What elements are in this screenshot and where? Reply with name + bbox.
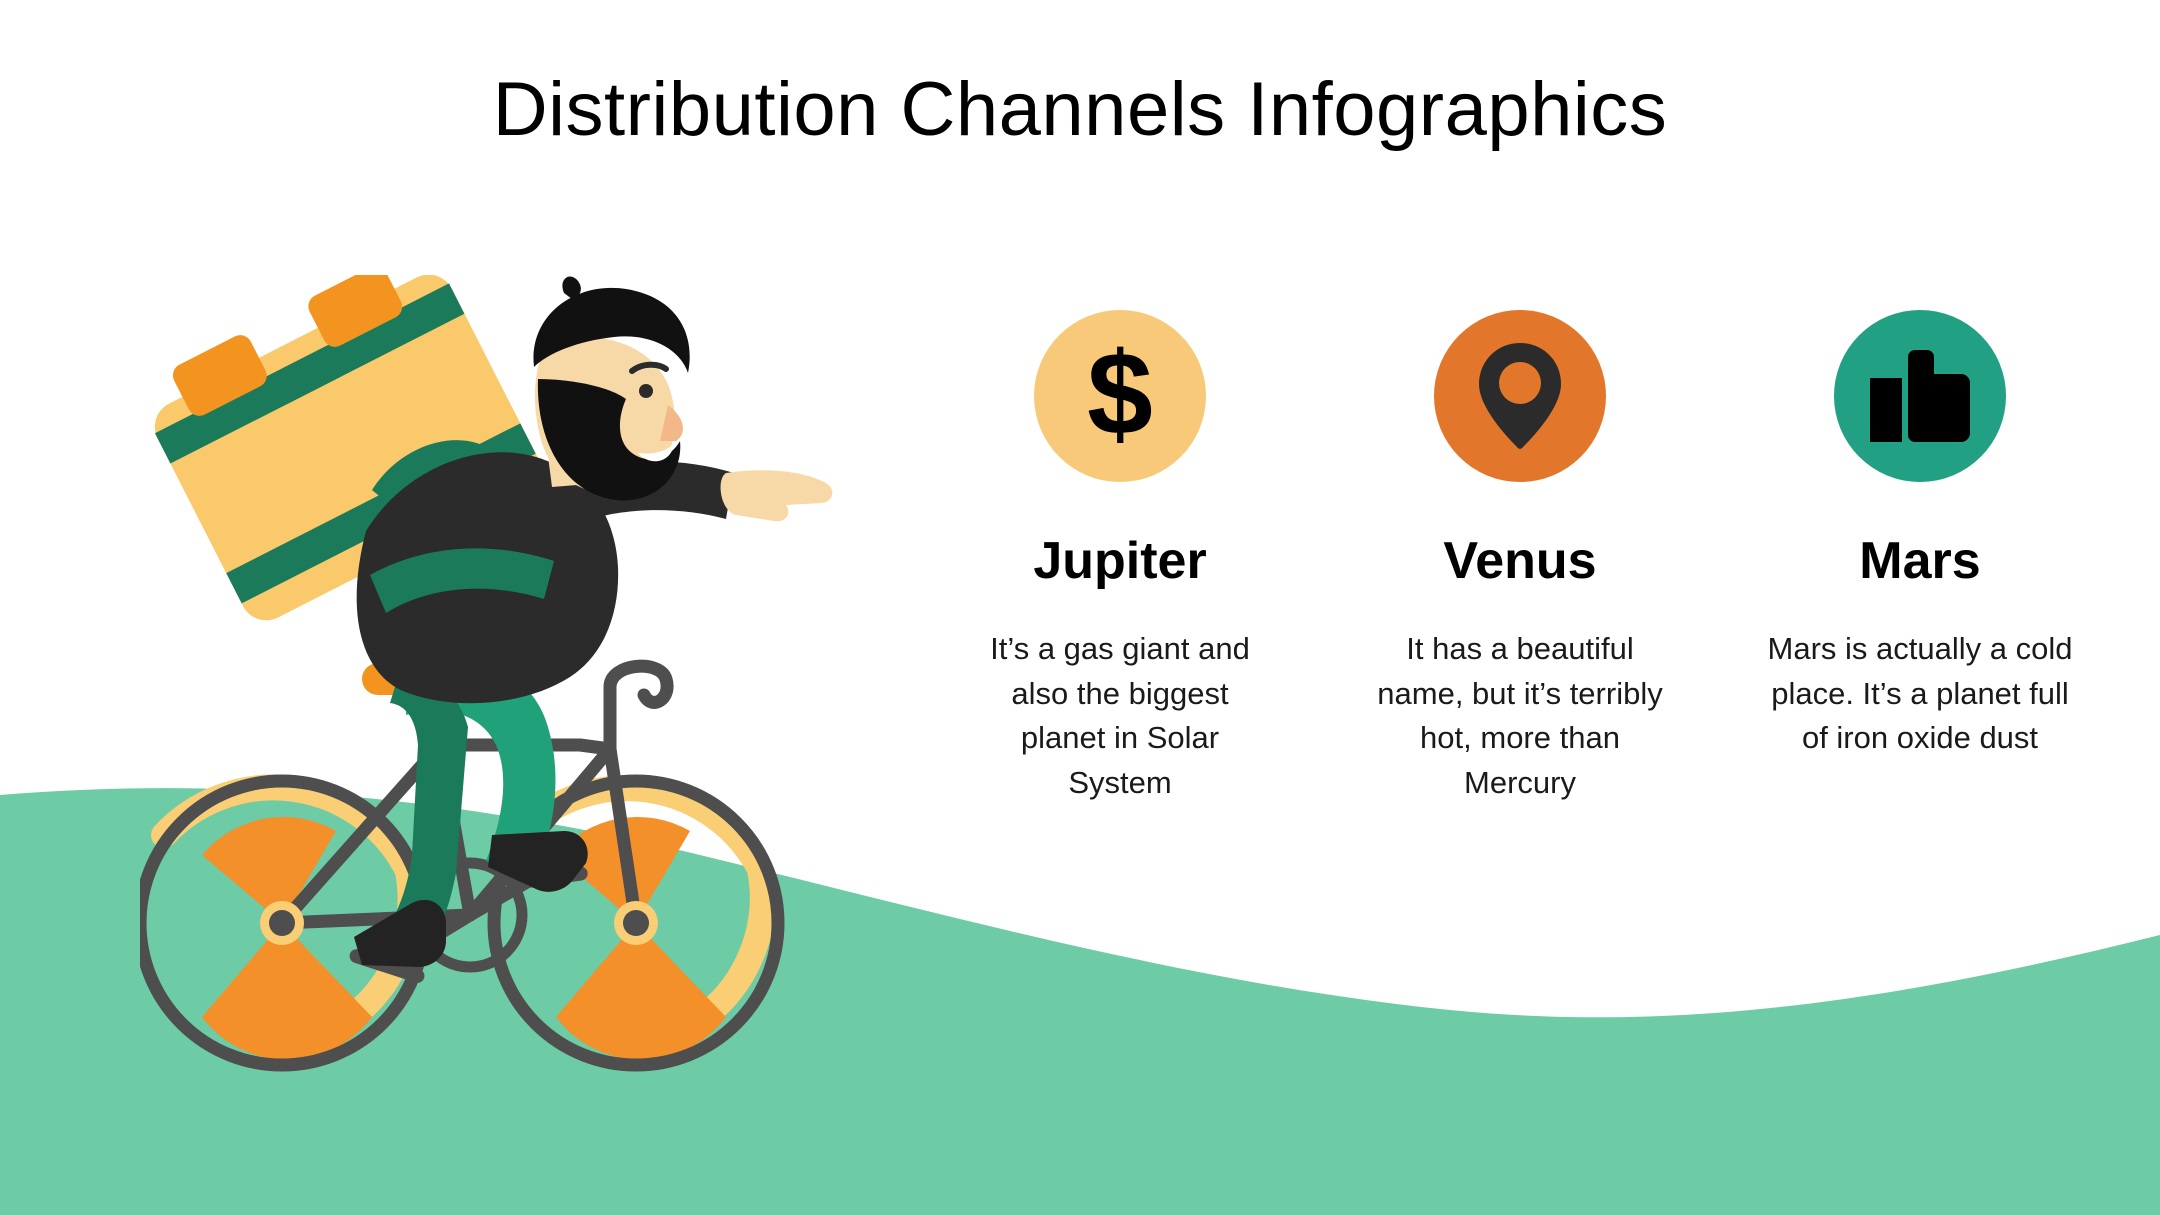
handlebar [610,666,667,749]
rider-hand-pointing [721,470,833,521]
map-pin-icon [1477,341,1563,451]
icon-circle-venus[interactable] [1434,310,1606,482]
column-body-jupiter: It’s a gas giant and also the biggest pl… [970,627,1270,807]
dollar-sign-icon: $ [1070,340,1170,452]
delivery-cyclist-illustration [140,275,980,1175]
front-hub-core [623,910,649,936]
column-title-mars: Mars [1859,534,1980,589]
slide-canvas: Distribution Channels Infographics [0,0,2160,1215]
info-columns: $ Jupiter It’s a gas giant and also the … [960,310,2080,850]
icon-circle-jupiter[interactable]: $ [1034,310,1206,482]
thumbs-up-icon [1868,348,1972,444]
rider-eye [639,384,653,398]
svg-text:$: $ [1087,340,1153,452]
info-column-jupiter[interactable]: $ Jupiter It’s a gas giant and also the … [960,310,1280,806]
icon-circle-mars[interactable] [1834,310,2006,482]
info-column-mars[interactable]: Mars Mars is actually a cold place. It’s… [1760,310,2080,761]
column-body-mars: Mars is actually a cold place. It’s a pl… [1760,627,2080,762]
column-body-venus: It has a beautiful name, but it’s terrib… [1370,627,1670,807]
column-title-jupiter: Jupiter [1033,534,1206,589]
column-title-venus: Venus [1443,534,1596,589]
page-title: Distribution Channels Infographics [0,68,2160,152]
rear-hub-core [269,910,295,936]
info-column-venus[interactable]: Venus It has a beautiful name, but it’s … [1360,310,1680,806]
